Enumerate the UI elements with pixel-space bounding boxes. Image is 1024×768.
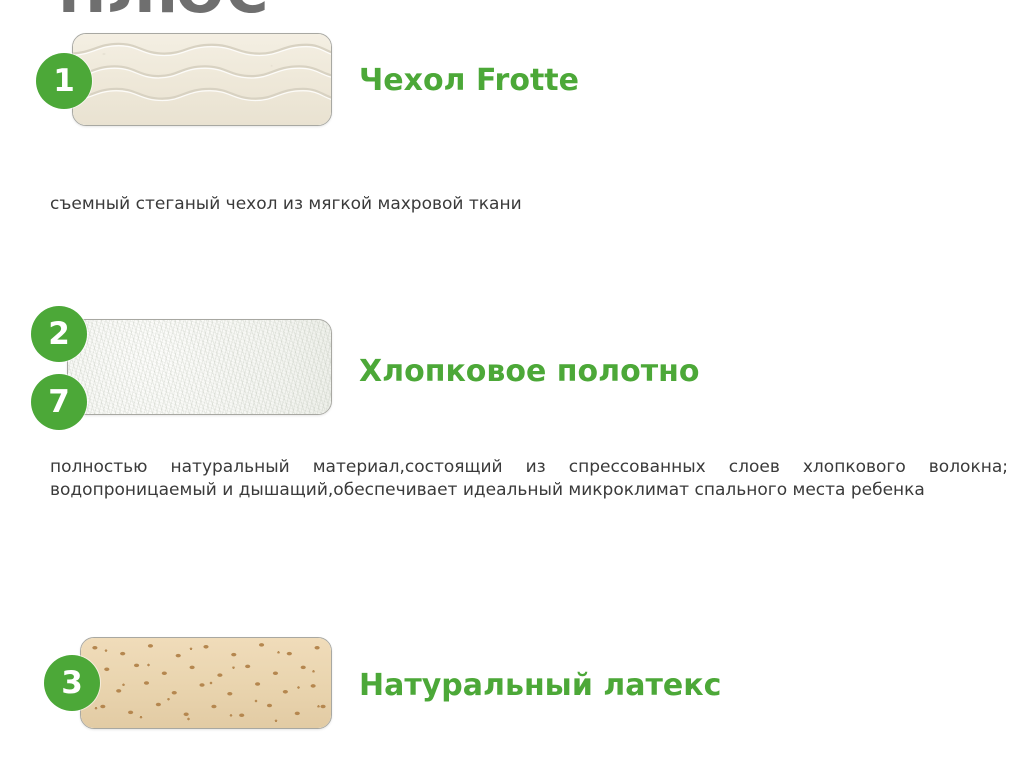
layer-badge-2-label: 2 xyxy=(48,319,70,350)
layer-title-cotton: Хлопковое полотно xyxy=(359,354,699,389)
latex-layer-swatch-wrap: 3 xyxy=(80,637,332,729)
layer-badge-3-label: 3 xyxy=(61,668,83,699)
layer-badge-2: 2 xyxy=(31,306,87,362)
layer-title-latex: Натуральный латекс xyxy=(359,668,721,703)
frotte-cover-swatch xyxy=(72,33,332,126)
layer-title-frotte: Чехол Frotte xyxy=(359,63,579,98)
layer-badge-1-label: 1 xyxy=(53,66,75,97)
page-title: ПЛЮС xyxy=(58,0,269,26)
layer-badge-7-label: 7 xyxy=(48,387,70,418)
frotte-cover-swatch-wrap: 1 xyxy=(72,33,332,126)
cotton-fiber-texture xyxy=(68,320,331,414)
layer-badge-7: 7 xyxy=(31,374,87,430)
latex-layer-swatch xyxy=(80,637,332,729)
cotton-layer-swatch xyxy=(67,319,332,415)
layer-badge-3: 3 xyxy=(44,655,100,711)
cotton-layer-swatch-wrap: 2 7 xyxy=(67,319,332,415)
layer-badge-1: 1 xyxy=(36,53,92,109)
layer-description-frotte: съемный стеганый чехол из мягкой махрово… xyxy=(50,193,750,216)
quilt-stitch-pattern-icon xyxy=(73,34,331,125)
latex-perforation-pattern-icon xyxy=(81,638,331,728)
layer-description-cotton: полностью натуральный материал,состоящий… xyxy=(50,456,1008,501)
